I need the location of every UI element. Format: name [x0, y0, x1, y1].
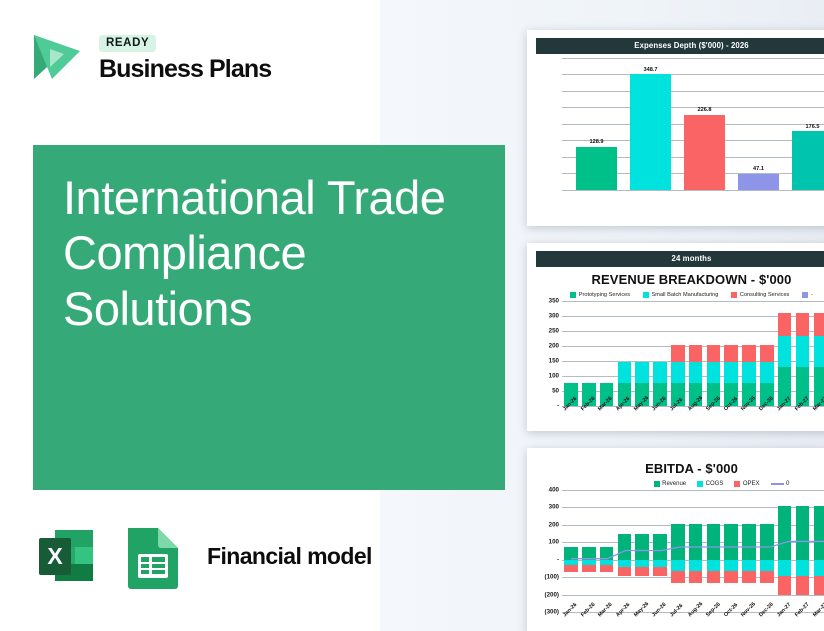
- bar-segment: [742, 571, 756, 583]
- legend-label: OPEX: [743, 481, 760, 487]
- page-title: International Trade Compliance Solutions: [63, 170, 483, 336]
- bar-segment: [778, 576, 792, 595]
- legend-item: Prototyping Services: [570, 292, 630, 298]
- financial-model-label: Financial model: [207, 543, 372, 570]
- expenses-plot: 128.9348.7226.847.1176.5: [536, 58, 824, 190]
- legend-item: OPEX: [734, 481, 759, 487]
- bar-segment: [814, 560, 824, 576]
- stacked-bar: [776, 301, 794, 406]
- bar-segment: [707, 362, 721, 383]
- stacked-bar: [598, 301, 616, 406]
- y-tick: 350: [549, 297, 559, 304]
- y-tick: 50: [552, 387, 559, 394]
- bar-segment: [564, 547, 578, 560]
- stacked-bar: [562, 301, 580, 406]
- stacked-bar: [633, 301, 651, 406]
- legend-label: -: [811, 292, 813, 298]
- revenue-period-header: 24 months: [536, 251, 824, 267]
- microsoft-excel-icon: X: [33, 520, 105, 592]
- bar-fill: [792, 131, 824, 189]
- stacked-bar: [687, 301, 705, 406]
- bar-segment: [724, 560, 738, 571]
- legend-label: Revenue: [662, 481, 686, 487]
- bar-segment: [707, 524, 721, 560]
- bar-segment: [707, 560, 721, 571]
- legend-swatch: [643, 292, 649, 298]
- legend-label: Consulting Services: [740, 292, 789, 298]
- bar-segment: [689, 571, 703, 583]
- stacked-bar: [580, 301, 598, 406]
- stacked-bar: [633, 490, 651, 612]
- bar-segment: [653, 362, 667, 383]
- stacked-bar: [705, 490, 723, 612]
- bar-segment: [724, 524, 738, 560]
- stacked-bar: [811, 301, 824, 406]
- legend-swatch: [731, 292, 737, 298]
- bar-segment: [778, 506, 792, 560]
- bar-segment: [653, 567, 667, 575]
- bar-segment: [671, 571, 685, 583]
- play-triangle-logo-icon: [28, 27, 86, 87]
- bar-segment: [760, 560, 774, 571]
- bar-segment: [635, 534, 649, 559]
- revenue-plot: 35030025020015010050-: [536, 301, 824, 406]
- legend-item: -: [802, 292, 812, 298]
- bar-value-label: 348.7: [630, 67, 671, 73]
- legend-swatch: [771, 483, 784, 485]
- expenses-chart-title: Expenses Depth ($'000) - 2026: [536, 38, 824, 54]
- y-tick: 150: [549, 357, 559, 364]
- brand-name: Business Plans: [99, 57, 271, 82]
- stacked-bar: [687, 490, 705, 612]
- y-tick: 100: [549, 539, 559, 546]
- y-tick: 100: [549, 372, 559, 379]
- legend-swatch: [570, 292, 576, 298]
- chart-card-expenses[interactable]: Expenses Depth ($'000) - 2026 128.9348.7…: [527, 30, 824, 226]
- bar-fill: [576, 147, 617, 190]
- bar-fill: [738, 174, 779, 190]
- legend-label: COGS: [706, 481, 724, 487]
- legend-item: Consulting Services: [731, 292, 789, 298]
- y-tick: 400: [549, 487, 559, 494]
- bar-segment: [814, 336, 824, 368]
- bar-segment: [814, 313, 824, 335]
- bar-segment: [600, 565, 614, 571]
- bar-segment: [760, 571, 774, 583]
- bar-segment: [635, 362, 649, 383]
- stacked-bar: [615, 490, 633, 612]
- stacked-bar: [722, 301, 740, 406]
- y-tick: 250: [549, 327, 559, 334]
- legend-swatch: [802, 292, 808, 298]
- bar-segment: [582, 565, 596, 571]
- legend-label: Small Batch Manufacturing: [652, 292, 719, 298]
- bar-segment: [689, 345, 703, 362]
- revenue-chart-title: REVENUE BREAKDOWN - $'000: [536, 272, 824, 287]
- bar-segment: [724, 362, 738, 383]
- y-tick: 200: [549, 342, 559, 349]
- ebitda-chart-title: EBITDA - $'000: [536, 461, 824, 476]
- bar-segment: [724, 345, 738, 362]
- stacked-bar: [794, 490, 812, 612]
- y-tick: -: [557, 556, 559, 563]
- bar-segment: [582, 547, 596, 560]
- stacked-bar: [722, 490, 740, 612]
- bar-segment: [653, 534, 667, 559]
- revenue-y-axis: 35030025020015010050-: [536, 301, 562, 406]
- bar-segment: [814, 506, 824, 560]
- bar-segment: [671, 524, 685, 560]
- bar-segment: [635, 567, 649, 575]
- legend-swatch: [734, 481, 740, 487]
- expenses-bars: 128.9348.7226.847.1176.5: [562, 58, 824, 190]
- bar-segment: [814, 576, 824, 595]
- bar-segment: [742, 560, 756, 571]
- legend-label: Prototyping Services: [579, 292, 630, 298]
- stacked-bar: [776, 490, 794, 612]
- chart-card-ebitda[interactable]: EBITDA - $'000 RevenueCOGSOPEX0 40030020…: [527, 448, 824, 631]
- bar-segment: [796, 313, 810, 335]
- svg-text:X: X: [47, 543, 63, 569]
- bar-fill: [630, 74, 671, 189]
- y-tick: 300: [549, 312, 559, 319]
- y-tick: (100): [545, 574, 559, 581]
- formats-footer: X Financial model: [33, 520, 372, 592]
- bar-segment: [671, 345, 685, 362]
- bar-segment: [778, 313, 792, 335]
- ebitda-plot: 400300200100-(100)(200)(300): [536, 490, 824, 612]
- legend-item: COGS: [697, 481, 723, 487]
- y-tick: -: [557, 402, 559, 409]
- bar-segment: [760, 362, 774, 383]
- legend-label: 0: [786, 481, 789, 487]
- stacked-bar: [580, 490, 598, 612]
- bar-segment: [600, 547, 614, 560]
- bar-segment: [742, 362, 756, 383]
- ebitda-legend: RevenueCOGSOPEX0: [596, 481, 824, 487]
- bar-segment: [618, 534, 632, 559]
- bar-segment: [796, 576, 810, 595]
- ebitda-bars: [562, 490, 824, 612]
- stacked-bar: [651, 301, 669, 406]
- revenue-bars: [562, 301, 824, 406]
- y-tick: (200): [545, 591, 559, 598]
- y-tick: 300: [549, 504, 559, 511]
- revenue-legend: Prototyping ServicesSmall Batch Manufact…: [536, 292, 824, 298]
- bar-segment: [671, 362, 685, 383]
- gridline: [562, 190, 824, 191]
- bar-segment: [760, 345, 774, 362]
- bar-value-label: 128.9: [576, 139, 617, 145]
- stacked-bar: [598, 490, 616, 612]
- stacked-bar: [669, 301, 687, 406]
- bar-segment: [671, 560, 685, 571]
- ebitda-x-axis: Jan-26Feb-26Mar-26Apr-26May-26Jun-26Jul-…: [562, 612, 824, 620]
- ebitda-y-axis: 400300200100-(100)(200)(300): [536, 490, 562, 612]
- bar-segment: [796, 560, 810, 576]
- bar-segment: [742, 345, 756, 362]
- bar-value-label: 176.5: [792, 124, 824, 130]
- legend-item: Small Batch Manufacturing: [643, 292, 718, 298]
- y-tick: (300): [545, 609, 559, 616]
- bar-segment: [618, 362, 632, 383]
- stacked-bar: [758, 490, 776, 612]
- bar-segment: [707, 345, 721, 362]
- bar-segment: [564, 565, 578, 571]
- ready-badge: READY: [99, 35, 156, 52]
- legend-swatch: [654, 481, 660, 487]
- hero-panel: International Trade Compliance Solutions: [33, 145, 505, 490]
- bar-segment: [689, 362, 703, 383]
- revenue-x-axis: Jan-26Feb-26Mar-26Apr-26May-26Jun-26Jul-…: [562, 406, 824, 414]
- bar-segment: [653, 560, 667, 568]
- bar-segment: [760, 524, 774, 560]
- legend-item: 0: [771, 481, 790, 487]
- bar-segment: [796, 336, 810, 368]
- stacked-bar: [740, 301, 758, 406]
- stacked-bar: [740, 490, 758, 612]
- bar-segment: [618, 567, 632, 575]
- legend-swatch: [697, 481, 703, 487]
- stacked-bar: [562, 490, 580, 612]
- y-tick: 200: [549, 521, 559, 528]
- bar-segment: [796, 506, 810, 560]
- stacked-bar: [651, 490, 669, 612]
- bar-segment: [618, 560, 632, 568]
- stacked-bar: [669, 490, 687, 612]
- bar-segment: [778, 560, 792, 576]
- bar-segment: [689, 524, 703, 560]
- stacked-bar: [615, 301, 633, 406]
- bar-segment: [707, 571, 721, 583]
- bar-segment: [689, 560, 703, 571]
- stacked-bar: [758, 301, 776, 406]
- bar-segment: [742, 524, 756, 560]
- stacked-bar: [705, 301, 723, 406]
- stacked-bar: [811, 490, 824, 612]
- brand-lockup: READY Business Plans: [28, 27, 271, 87]
- bar-fill: [684, 115, 725, 190]
- legend-item: Revenue: [654, 481, 687, 487]
- bar-value-label: 226.8: [684, 107, 725, 113]
- slide-canvas: READY Business Plans International Trade…: [0, 0, 824, 631]
- bar-segment: [778, 336, 792, 368]
- google-sheets-icon: [122, 520, 184, 592]
- bar-segment: [635, 560, 649, 568]
- bar-value-label: 47.1: [738, 166, 779, 172]
- chart-card-revenue-breakdown[interactable]: 24 months REVENUE BREAKDOWN - $'000 Prot…: [527, 243, 824, 431]
- bar-segment: [724, 571, 738, 583]
- stacked-bar: [794, 301, 812, 406]
